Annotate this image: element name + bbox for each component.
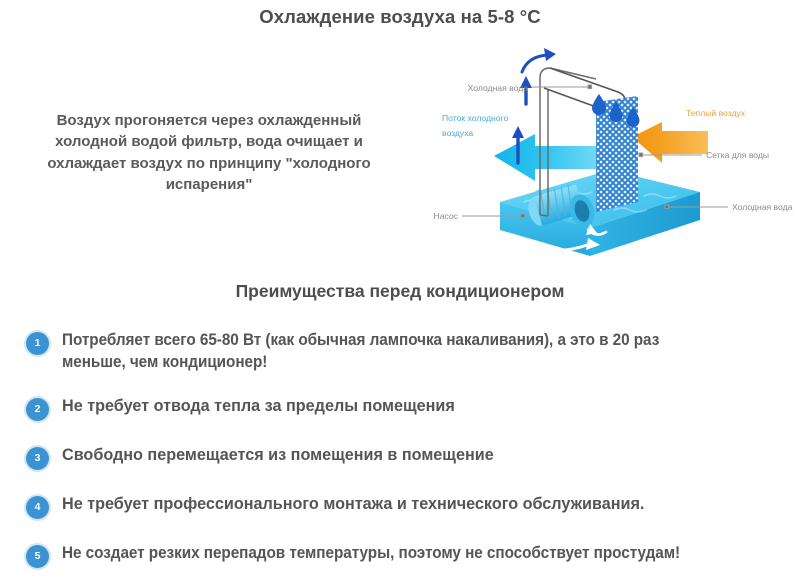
label-cold-air-flow-line2: воздуха [442, 128, 473, 138]
label-cold-water-top: Холодная вода [468, 83, 529, 93]
benefit-badge-3: 3 [26, 447, 49, 470]
list-item: 2 Не требует отвода тепла за пределы пом… [26, 396, 776, 421]
list-item: 5 Не создает резких перепадов температур… [26, 543, 776, 568]
benefits-heading: Преимущества перед кондиционером [0, 281, 800, 302]
label-warm-air: Теплый воздух [686, 108, 746, 118]
list-item: 1 Потребляет всего 65-80 Вт (как обычная… [26, 330, 776, 374]
benefit-text-4: Не требует профессионального монтажа и т… [62, 494, 644, 516]
benefit-badge-4: 4 [26, 496, 49, 519]
benefit-badge-5: 5 [26, 545, 49, 568]
list-item: 3 Свободно перемещается из помещения в п… [26, 445, 776, 470]
intro-paragraph: Воздух прогоняется через охлажденный хол… [28, 110, 390, 195]
benefit-text-1: Потребляет всего 65-80 Вт (как обычная л… [62, 330, 724, 374]
label-cold-water-tank: Холодная вода [732, 202, 793, 212]
benefit-text-3: Свободно перемещается из помещения в пом… [62, 445, 494, 467]
benefit-badge-1: 1 [26, 332, 49, 355]
cold-air-arrow-icon [494, 134, 596, 181]
cooler-diagram: Холодная вода Поток холодного воздуха Те… [400, 30, 800, 265]
label-pump: Насос [434, 211, 459, 221]
benefits-list: 1 Потребляет всего 65-80 Вт (как обычная… [26, 330, 776, 588]
list-item: 4 Не требует профессионального монтажа и… [26, 494, 776, 519]
benefit-badge-2: 2 [26, 398, 49, 421]
page-title: Охлаждение воздуха на 5-8 °C [0, 6, 800, 28]
label-cold-air-flow-line1: Поток холодного [442, 113, 509, 123]
benefit-text-2: Не требует отвода тепла за пределы помещ… [62, 396, 455, 418]
benefit-text-5: Не создает резких перепадов температуры,… [62, 543, 680, 565]
label-water-mesh: Сетка для воды [706, 150, 769, 160]
warm-air-arrow-icon [632, 122, 708, 163]
